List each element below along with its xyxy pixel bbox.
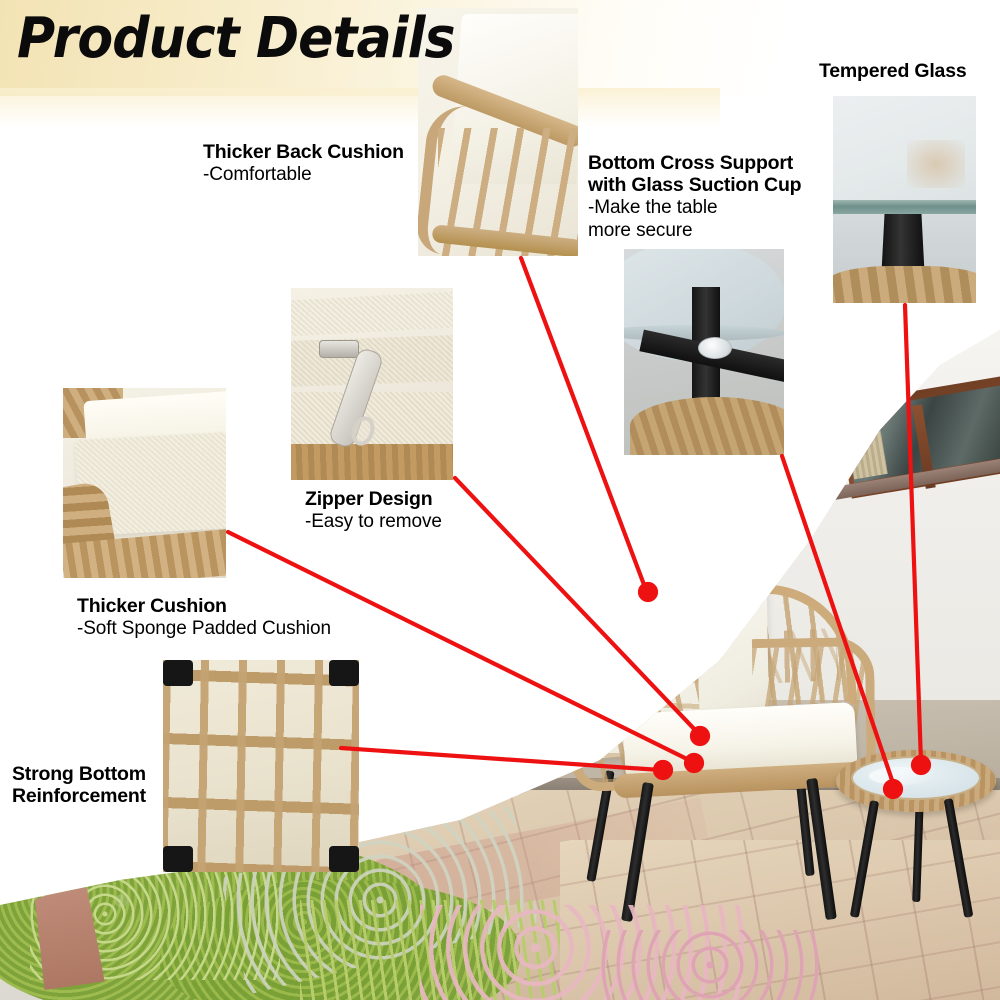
zipper-slider-icon	[319, 340, 359, 358]
page-title: Product Details	[17, 6, 455, 71]
callout-title-strong-bottom-reinforcement-line1: Strong Bottom	[12, 763, 146, 785]
callout-subtitle-thicker-cushion: -Soft Sponge Padded Cushion	[77, 617, 331, 640]
detail-image-bottom-cross-support	[624, 249, 784, 455]
detail-image-strong-bottom-reinforcement	[163, 660, 359, 872]
table-leg-right	[944, 798, 974, 918]
detail-image-zipper-design	[291, 288, 453, 480]
infographic-canvas: Product Details	[0, 0, 1000, 1000]
callout-title-bottom-cross-support-line1: Bottom Cross Support	[588, 152, 801, 174]
callout-label-zipper-design: Zipper Design -Easy to remove	[305, 488, 442, 533]
detail-corner-bracket-tl	[163, 660, 193, 686]
callout-subtitle-bottom-cross-support-line1: -Make the table	[588, 196, 801, 219]
table-leg-left	[850, 800, 879, 918]
leader-line-zipper-design	[455, 478, 698, 733]
detail-image-tempered-glass	[833, 96, 976, 303]
chair-back-pillow-fold	[567, 571, 611, 695]
callout-subtitle-bottom-cross-support-line2: more secure	[588, 219, 801, 242]
leader-dot-thicker-back-cushion	[640, 584, 656, 600]
callout-label-tempered-glass: Tempered Glass	[819, 60, 967, 82]
detail-corner-bracket-br	[329, 846, 359, 872]
table-glass-top	[851, 756, 981, 800]
detail-image-thicker-cushion	[63, 388, 226, 578]
callout-title-thicker-cushion: Thicker Cushion	[77, 595, 331, 617]
callout-label-strong-bottom-reinforcement: Strong Bottom Reinforcement	[12, 763, 146, 807]
table-leg-back	[912, 798, 924, 902]
detail-rattan-weave	[630, 397, 784, 455]
header-gradient-fade	[0, 88, 720, 128]
detail-reinforcement-lattice	[163, 660, 359, 872]
photo-pink-flowers-secondary	[600, 930, 820, 1000]
callout-title-bottom-cross-support-line2: with Glass Suction Cup	[588, 174, 801, 196]
callout-subtitle-zipper-design: -Easy to remove	[305, 510, 442, 533]
suction-cup-icon	[698, 337, 732, 359]
callout-title-tempered-glass: Tempered Glass	[819, 60, 967, 82]
callout-label-thicker-back-cushion: Thicker Back Cushion -Comfortable	[203, 141, 404, 186]
product-side-table	[836, 742, 1000, 942]
callout-title-zipper-design: Zipper Design	[305, 488, 442, 510]
detail-fabric-band-top	[291, 292, 453, 336]
detail-corner-bracket-bl	[163, 846, 193, 872]
callout-subtitle-thicker-back-cushion: -Comfortable	[203, 163, 404, 186]
callout-title-strong-bottom-reinforcement-line2: Reinforcement	[12, 785, 146, 807]
callout-title-thicker-back-cushion: Thicker Back Cushion	[203, 141, 404, 163]
detail-wood-backdrop	[291, 444, 453, 480]
callout-label-thicker-cushion: Thicker Cushion -Soft Sponge Padded Cush…	[77, 595, 331, 640]
detail-corner-bracket-tr	[329, 660, 359, 686]
callout-label-bottom-cross-support: Bottom Cross Support with Glass Suction …	[588, 152, 801, 242]
detail-glass-rattan-weave	[833, 266, 976, 303]
chair-leg-front-left	[621, 782, 654, 922]
detail-glass-edge-band	[833, 200, 976, 214]
detail-glass-reflection	[907, 140, 965, 188]
